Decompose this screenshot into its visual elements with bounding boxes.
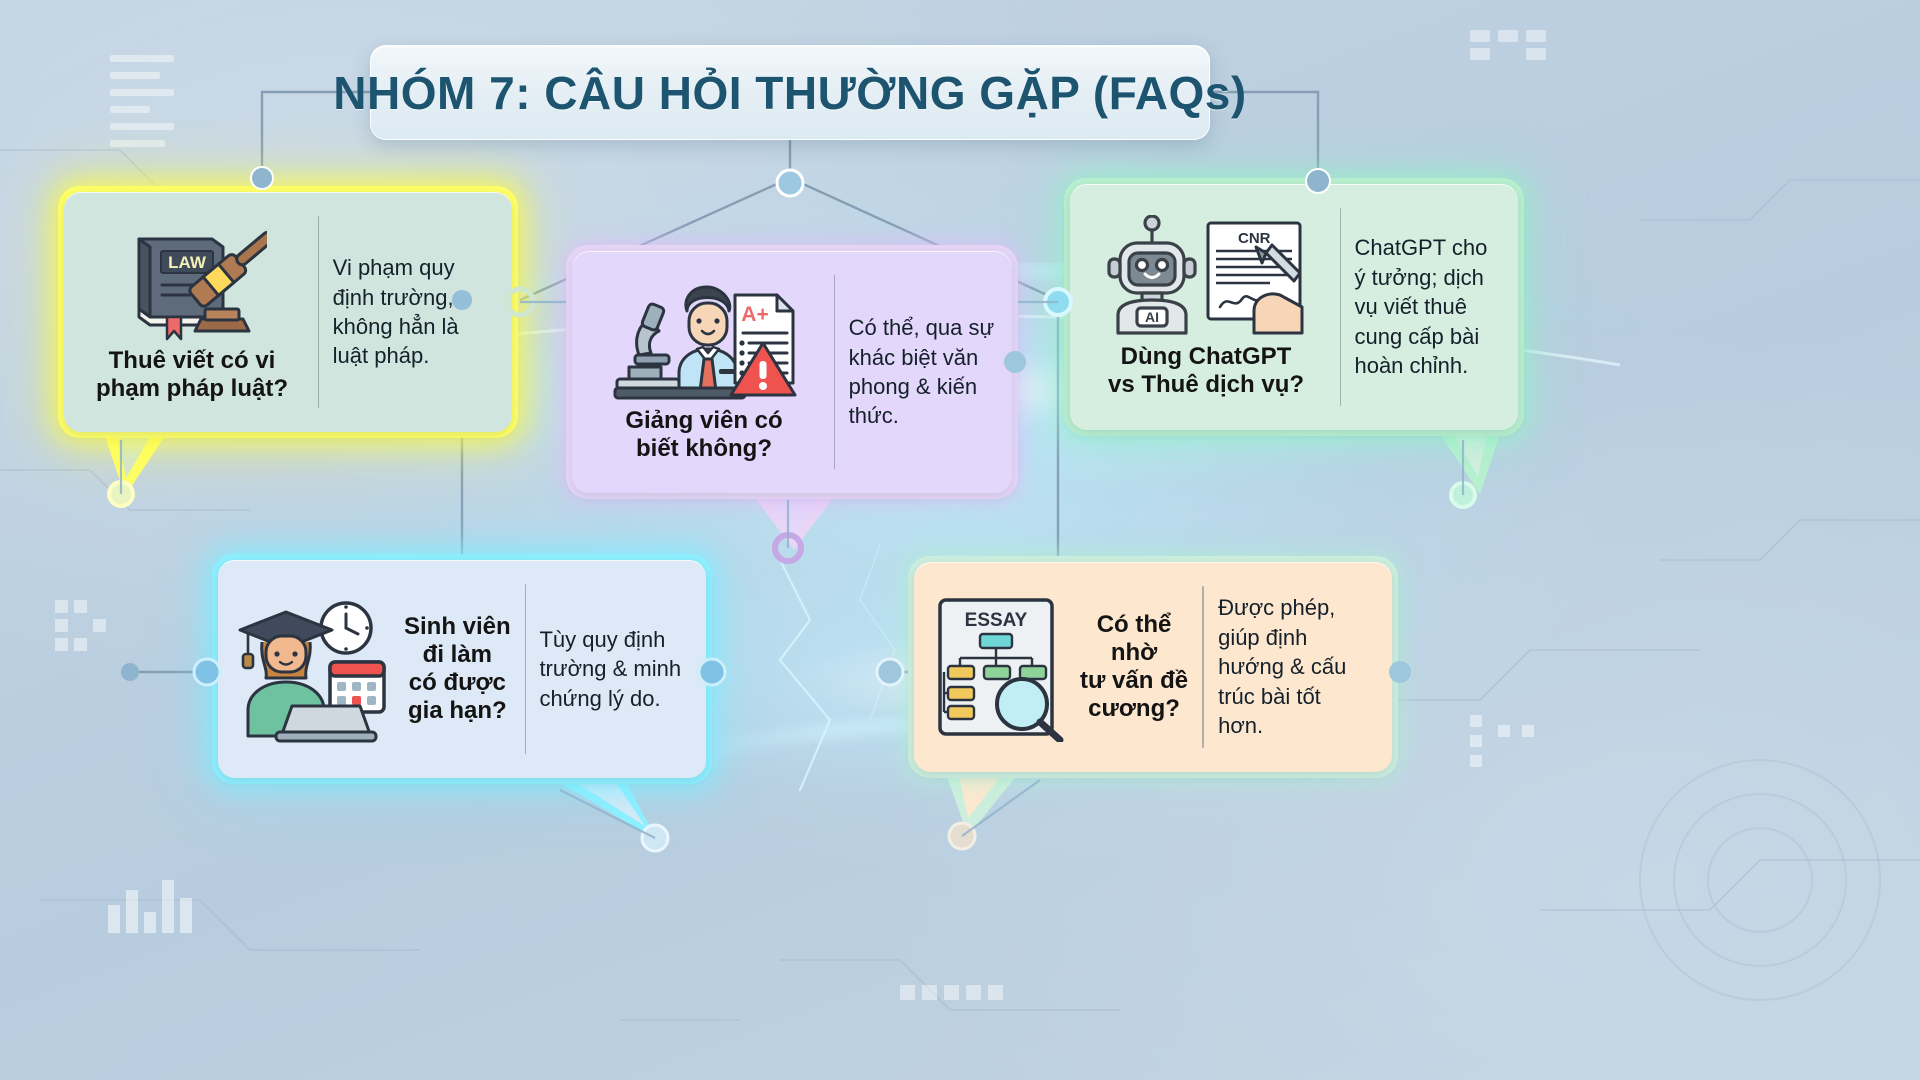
- connector-nodes: [0, 0, 1920, 1080]
